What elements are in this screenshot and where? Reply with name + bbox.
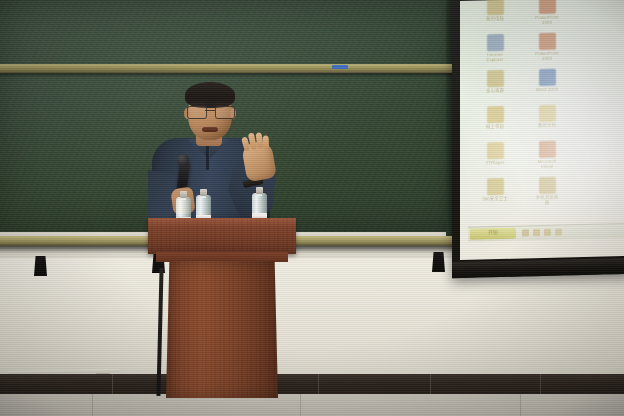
recycle-bin-icon-glyph bbox=[487, 178, 504, 195]
dark-tiled-baseboard bbox=[0, 374, 624, 396]
microsoft-visual-icon-caption: Microsoft Visual bbox=[522, 158, 572, 169]
bottle-cap bbox=[200, 189, 207, 196]
powerpoint-2003-icon[interactable]: PowerPoint 2003 bbox=[522, 0, 572, 25]
documents-folder-icon[interactable]: 我的文档 bbox=[522, 104, 572, 128]
my-computer-icon-caption: 我的电脑 bbox=[470, 16, 520, 22]
taskbar[interactable]: 开始 bbox=[468, 222, 624, 241]
speaker bbox=[140, 84, 300, 234]
documents-folder-icon-caption: 我的文档 bbox=[522, 122, 572, 128]
powerpoint-2003-icon-caption: PowerPoint 2003 bbox=[522, 14, 572, 25]
gray-tile-floor bbox=[0, 394, 624, 416]
lens-right bbox=[215, 106, 235, 119]
word-2003-icon-caption: Word 2003 bbox=[522, 86, 572, 92]
internet-explorer-icon[interactable]: Internet Explorer bbox=[470, 34, 520, 63]
bottle-cap bbox=[256, 187, 263, 194]
browser-icon[interactable] bbox=[544, 229, 551, 236]
internet-explorer-icon-glyph bbox=[487, 34, 504, 51]
lectern-body bbox=[166, 261, 278, 398]
lecture-hall-photo: 我的电脑PowerPoint 2003Internet ExplorerPowe… bbox=[0, 0, 624, 416]
app-icon-glyph bbox=[539, 177, 556, 194]
shirt-placket bbox=[206, 144, 209, 170]
powerpoint-2003b-icon-caption: PowerPoint 2003 bbox=[522, 50, 572, 61]
network-places-icon-glyph bbox=[487, 106, 504, 123]
ttplayer-icon-glyph bbox=[487, 142, 504, 159]
projection-screen[interactable]: 我的电脑PowerPoint 2003Internet ExplorerPowe… bbox=[460, 0, 624, 260]
powerpoint-2003-icon-glyph bbox=[539, 0, 556, 14]
documents-folder-icon-glyph bbox=[539, 105, 556, 122]
wood-grain bbox=[148, 218, 296, 254]
microsoft-visual-icon-glyph bbox=[539, 141, 556, 158]
microsoft-visual-icon[interactable]: Microsoft Visual bbox=[522, 140, 572, 169]
hand-right-open-palm bbox=[241, 140, 277, 183]
kaspersky-icon-glyph bbox=[487, 70, 504, 87]
kaspersky-icon-caption: 金山毒霸 bbox=[470, 88, 520, 94]
recycle-bin-icon-caption: 360安全卫士 bbox=[470, 196, 520, 202]
glasses-bridge bbox=[205, 110, 215, 111]
lens-left bbox=[187, 106, 207, 119]
app-icon[interactable]: 手机浏览器 器 bbox=[522, 176, 572, 205]
chalk-tray-rail-upper bbox=[0, 64, 458, 73]
eyebrow-right bbox=[215, 103, 230, 105]
bottle-cap bbox=[180, 191, 187, 198]
speaker-mount-bracket bbox=[34, 256, 47, 276]
show-desktop-icon[interactable] bbox=[522, 229, 529, 236]
wood-grain bbox=[166, 261, 278, 398]
projection-screen-frame: 我的电脑PowerPoint 2003Internet ExplorerPowe… bbox=[452, 0, 624, 278]
word-2003-icon-glyph bbox=[539, 69, 556, 86]
start-button[interactable]: 开始 bbox=[470, 228, 516, 240]
kaspersky-icon[interactable]: 金山毒霸 bbox=[470, 70, 520, 94]
network-places-icon-caption: 网上邻居 bbox=[470, 124, 520, 130]
media-player-icon[interactable] bbox=[533, 229, 540, 236]
app-icon-caption: 手机浏览器 器 bbox=[522, 194, 572, 205]
lectern-top bbox=[148, 218, 296, 254]
mouth bbox=[202, 127, 218, 132]
chalk-marker bbox=[332, 65, 348, 69]
my-computer-icon-glyph bbox=[487, 0, 504, 15]
my-computer-icon[interactable]: 我的电脑 bbox=[470, 0, 520, 22]
lectern-neck bbox=[156, 252, 288, 262]
word-2003-icon[interactable]: Word 2003 bbox=[522, 68, 572, 92]
network-places-icon[interactable]: 网上邻居 bbox=[470, 106, 520, 130]
folder-icon[interactable] bbox=[555, 229, 562, 236]
powerpoint-2003b-icon-glyph bbox=[539, 33, 556, 50]
eyeglasses bbox=[186, 106, 234, 117]
ttplayer-icon-caption: TTPlayer bbox=[470, 160, 520, 166]
ttplayer-icon[interactable]: TTPlayer bbox=[470, 142, 520, 166]
eyebrow-left bbox=[190, 103, 205, 105]
powerpoint-2003b-icon[interactable]: PowerPoint 2003 bbox=[522, 32, 572, 61]
recycle-bin-icon[interactable]: 360安全卫士 bbox=[470, 178, 520, 202]
speaker-mount-bracket bbox=[432, 252, 445, 272]
finger bbox=[263, 135, 269, 148]
internet-explorer-icon-caption: Internet Explorer bbox=[470, 52, 520, 63]
